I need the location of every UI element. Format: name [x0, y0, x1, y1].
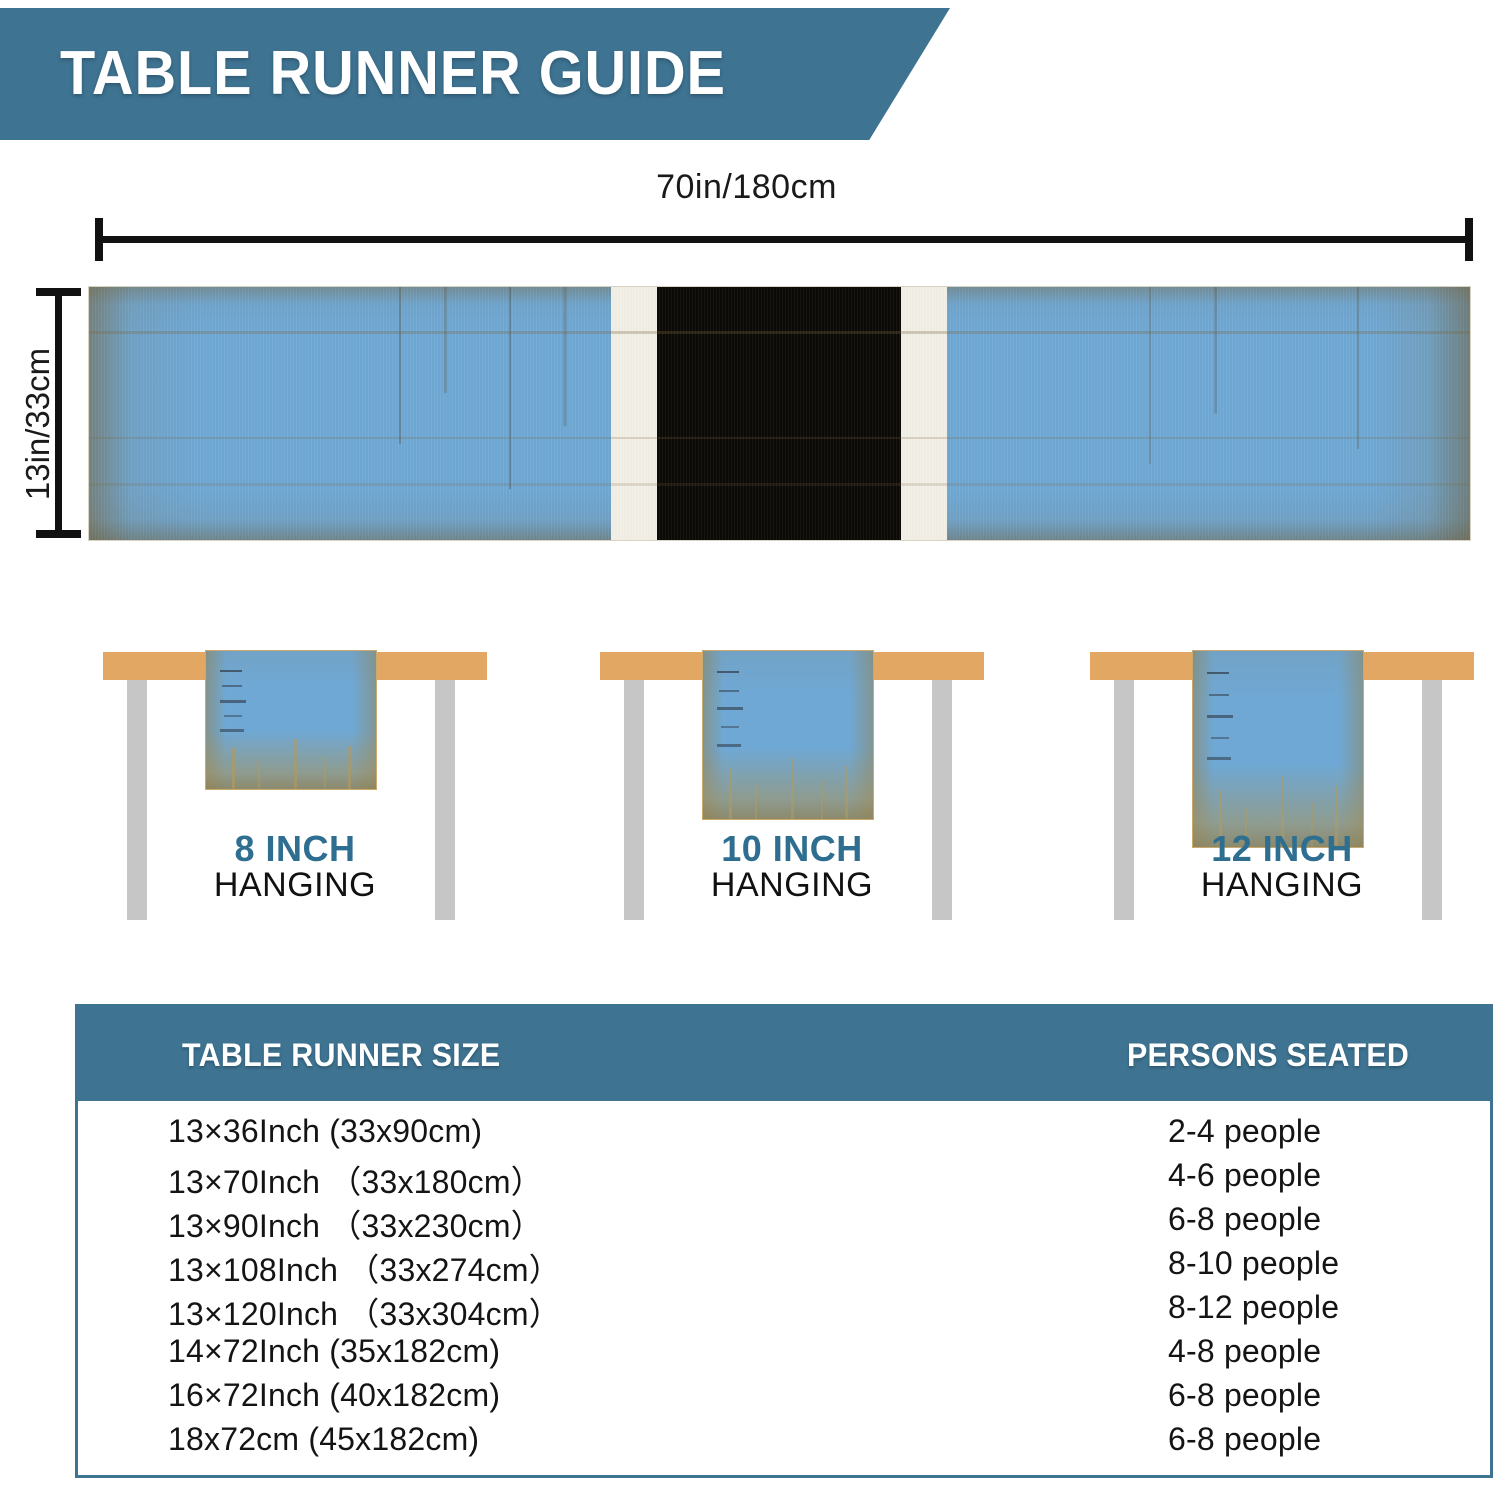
cell-people: 2-4 people	[1168, 1113, 1321, 1150]
table-row: 16×72Inch (40x182cm) 6-8 people	[78, 1377, 1490, 1421]
hanging-sub-label: HANGING	[95, 868, 495, 904]
cell-size: 13×120Inch （33x304cm）	[168, 1289, 561, 1335]
table-row: 13×70Inch （33x180cm） 4-6 people	[78, 1157, 1490, 1201]
size-reference-table: TABLE RUNNER SIZE PERSONS SEATED 13×36In…	[75, 1004, 1493, 1478]
table-row: 13×90Inch （33x230cm） 6-8 people	[78, 1201, 1490, 1245]
drape-bottom-wear	[206, 731, 376, 789]
width-dimension-line	[95, 236, 1473, 243]
cell-size: 16×72Inch (40x182cm)	[168, 1377, 500, 1414]
column-header-size: TABLE RUNNER SIZE	[182, 1037, 500, 1074]
cell-size: 13×90Inch （33x230cm）	[168, 1201, 543, 1247]
runner-drape	[205, 650, 377, 790]
cell-people: 4-6 people	[1168, 1157, 1321, 1194]
title-banner: TABLE RUNNER GUIDE	[0, 8, 960, 143]
runner-width-label: 70in/180cm	[0, 168, 1493, 207]
drape-bottom-wear	[703, 748, 873, 819]
hanging-option-8-inch: 8 INCH HANGING	[95, 612, 495, 952]
table-header-row: TABLE RUNNER SIZE PERSONS SEATED	[78, 1007, 1490, 1101]
table-body: 13×36Inch (33x90cm) 2-4 people 13×70Inch…	[78, 1101, 1490, 1465]
hanging-option-12-inch: 12 INCH HANGING	[1082, 612, 1482, 952]
runner-drape	[1192, 650, 1364, 848]
cell-people: 8-12 people	[1168, 1289, 1339, 1326]
hanging-sub-label: HANGING	[592, 868, 992, 904]
runner-black-stripe	[657, 287, 901, 540]
cell-size: 14×72Inch (35x182cm)	[168, 1333, 500, 1370]
cell-size: 18x72cm (45x182cm)	[168, 1421, 479, 1458]
table-runner-product-image	[88, 286, 1471, 541]
cell-people: 8-10 people	[1168, 1245, 1339, 1282]
hanging-option-10-inch: 10 INCH HANGING	[592, 612, 992, 952]
runner-white-stripe-right	[901, 287, 947, 540]
table-row: 13×108Inch （33x274cm） 8-10 people	[78, 1245, 1490, 1289]
hanging-length-label: 10 INCH	[592, 830, 992, 868]
runner-height-label: 13in/33cm	[19, 294, 57, 554]
cell-people: 4-8 people	[1168, 1333, 1321, 1370]
column-header-persons: PERSONS SEATED	[1127, 1037, 1409, 1074]
runner-white-stripe-left	[611, 287, 657, 540]
table-row: 18x72cm (45x182cm) 6-8 people	[78, 1421, 1490, 1465]
cell-size: 13×108Inch （33x274cm）	[168, 1245, 561, 1291]
table-row: 13×120Inch （33x304cm） 8-12 people	[78, 1289, 1490, 1333]
hanging-sub-label: HANGING	[1082, 868, 1482, 904]
cell-size: 13×36Inch (33x90cm)	[168, 1113, 482, 1150]
page-title: TABLE RUNNER GUIDE	[60, 38, 726, 109]
cell-people: 6-8 people	[1168, 1377, 1321, 1414]
hanging-length-label: 12 INCH	[1082, 830, 1482, 868]
table-row: 13×36Inch (33x90cm) 2-4 people	[78, 1113, 1490, 1157]
cell-people: 6-8 people	[1168, 1201, 1321, 1238]
cell-people: 6-8 people	[1168, 1421, 1321, 1458]
runner-drape	[702, 650, 874, 820]
width-dimension-cap-right	[1465, 218, 1473, 261]
cell-size: 13×70Inch （33x180cm）	[168, 1157, 543, 1203]
table-row: 14×72Inch (35x182cm) 4-8 people	[78, 1333, 1490, 1377]
hanging-illustrations: 8 INCH HANGING 10 INCH HANGING 12 INCH H…	[0, 612, 1493, 952]
hanging-length-label: 8 INCH	[95, 830, 495, 868]
